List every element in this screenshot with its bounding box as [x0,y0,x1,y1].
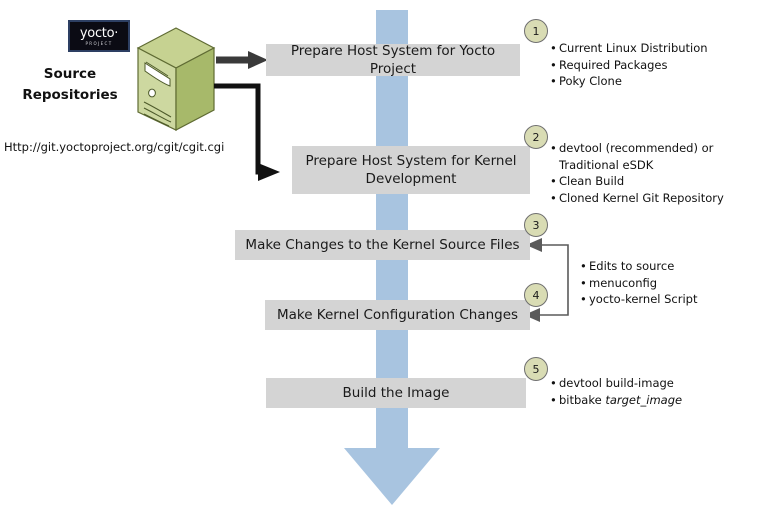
bullet-list-steps-3-4: • Edits to source • menuconfig • yocto-k… [580,258,765,308]
process-box-step-1[interactable]: Prepare Host System for Yocto Project [266,44,520,76]
step-number-label: 1 [533,25,540,38]
list-item: • menuconfig [580,275,765,292]
process-box-label: Make Kernel Configuration Changes [277,306,518,324]
logo-word-text: yocto [80,26,114,41]
bullet-icon: • [550,375,559,392]
step-number-3: 3 [524,213,548,237]
list-item: • Current Linux Distribution [550,40,765,57]
list-item: • Required Packages [550,57,765,74]
process-box-label: Prepare Host System for Yocto Project [274,42,512,78]
step-number-4: 4 [524,283,548,307]
bullet-icon: • [550,140,559,157]
source-repositories-label: Source Repositories [8,64,132,106]
diagram-canvas: yocto· PROJECT Source Repositories Http:… [0,0,769,517]
connector-to-step2 [214,86,280,181]
list-item: • yocto-kernel Script [580,291,765,308]
source-label-line1: Source [8,64,132,85]
yocto-project-logo: yocto· PROJECT [68,20,130,52]
list-item: • devtool (recommended) or Traditional e… [550,140,765,173]
bullet-icon: • [550,40,559,57]
connector-to-step1 [216,51,268,69]
step-number-label: 3 [533,219,540,232]
bullet-label: Cloned Kernel Git Repository [559,190,765,207]
process-box-step-5[interactable]: Build the Image [266,378,526,408]
list-item: • Clean Build [550,173,765,190]
bullet-label-italic: target_image [605,393,682,407]
process-box-step-3[interactable]: Make Changes to the Kernel Source Files [235,230,530,260]
server-tower-icon [134,26,218,134]
bullet-label: bitbake target_image [559,392,765,409]
step-number-label: 5 [533,363,540,376]
list-item: • Poky Clone [550,73,765,90]
bullet-list-step-5: • devtool build-image • bitbake target_i… [550,375,765,408]
bullet-icon: • [550,190,559,207]
step-number-label: 4 [533,289,540,302]
bullet-label: devtool build-image [559,375,765,392]
bullet-label: Required Packages [559,57,765,74]
process-box-label: Make Changes to the Kernel Source Files [245,236,519,254]
bullet-icon: • [580,275,589,292]
bullet-label: Current Linux Distribution [559,40,765,57]
process-box-step-2[interactable]: Prepare Host System for Kernel Developme… [292,146,530,194]
list-item: • Edits to source [580,258,765,275]
logo-wordmark: yocto· [80,27,118,40]
bullet-icon: • [580,291,589,308]
step-number-label: 2 [533,131,540,144]
step-number-5: 5 [524,357,548,381]
bullet-label: devtool (recommended) or Traditional eSD… [559,140,765,173]
bullet-icon: • [550,173,559,190]
list-item: • Cloned Kernel Git Repository [550,190,765,207]
bullet-label-plain: bitbake [559,393,605,407]
bullet-icon: • [550,392,559,409]
source-label-line2: Repositories [8,85,132,106]
bullet-label: Edits to source [589,258,765,275]
step-number-1: 1 [524,19,548,43]
logo-subtitle: PROJECT [85,42,112,46]
bullet-label: menuconfig [589,275,765,292]
bullet-icon: • [550,57,559,74]
source-repository-url: Http://git.yoctoproject.org/cgit/cgit.cg… [4,140,224,154]
bullet-list-step-1: • Current Linux Distribution • Required … [550,40,765,90]
list-item: • devtool build-image [550,375,765,392]
process-box-label: Build the Image [343,384,450,402]
process-box-step-4[interactable]: Make Kernel Configuration Changes [265,300,530,330]
bullet-label: yocto-kernel Script [589,291,765,308]
bullet-icon: • [580,258,589,275]
bracket-steps-3-4 [524,238,568,322]
bullet-label: Poky Clone [559,73,765,90]
process-box-label: Prepare Host System for Kernel Developme… [300,152,522,188]
step-number-2: 2 [524,125,548,149]
list-item: • bitbake target_image [550,392,765,409]
bullet-label: Clean Build [559,173,765,190]
logo-dot: · [114,26,118,41]
bullet-list-step-2: • devtool (recommended) or Traditional e… [550,140,765,207]
bullet-icon: • [550,73,559,90]
